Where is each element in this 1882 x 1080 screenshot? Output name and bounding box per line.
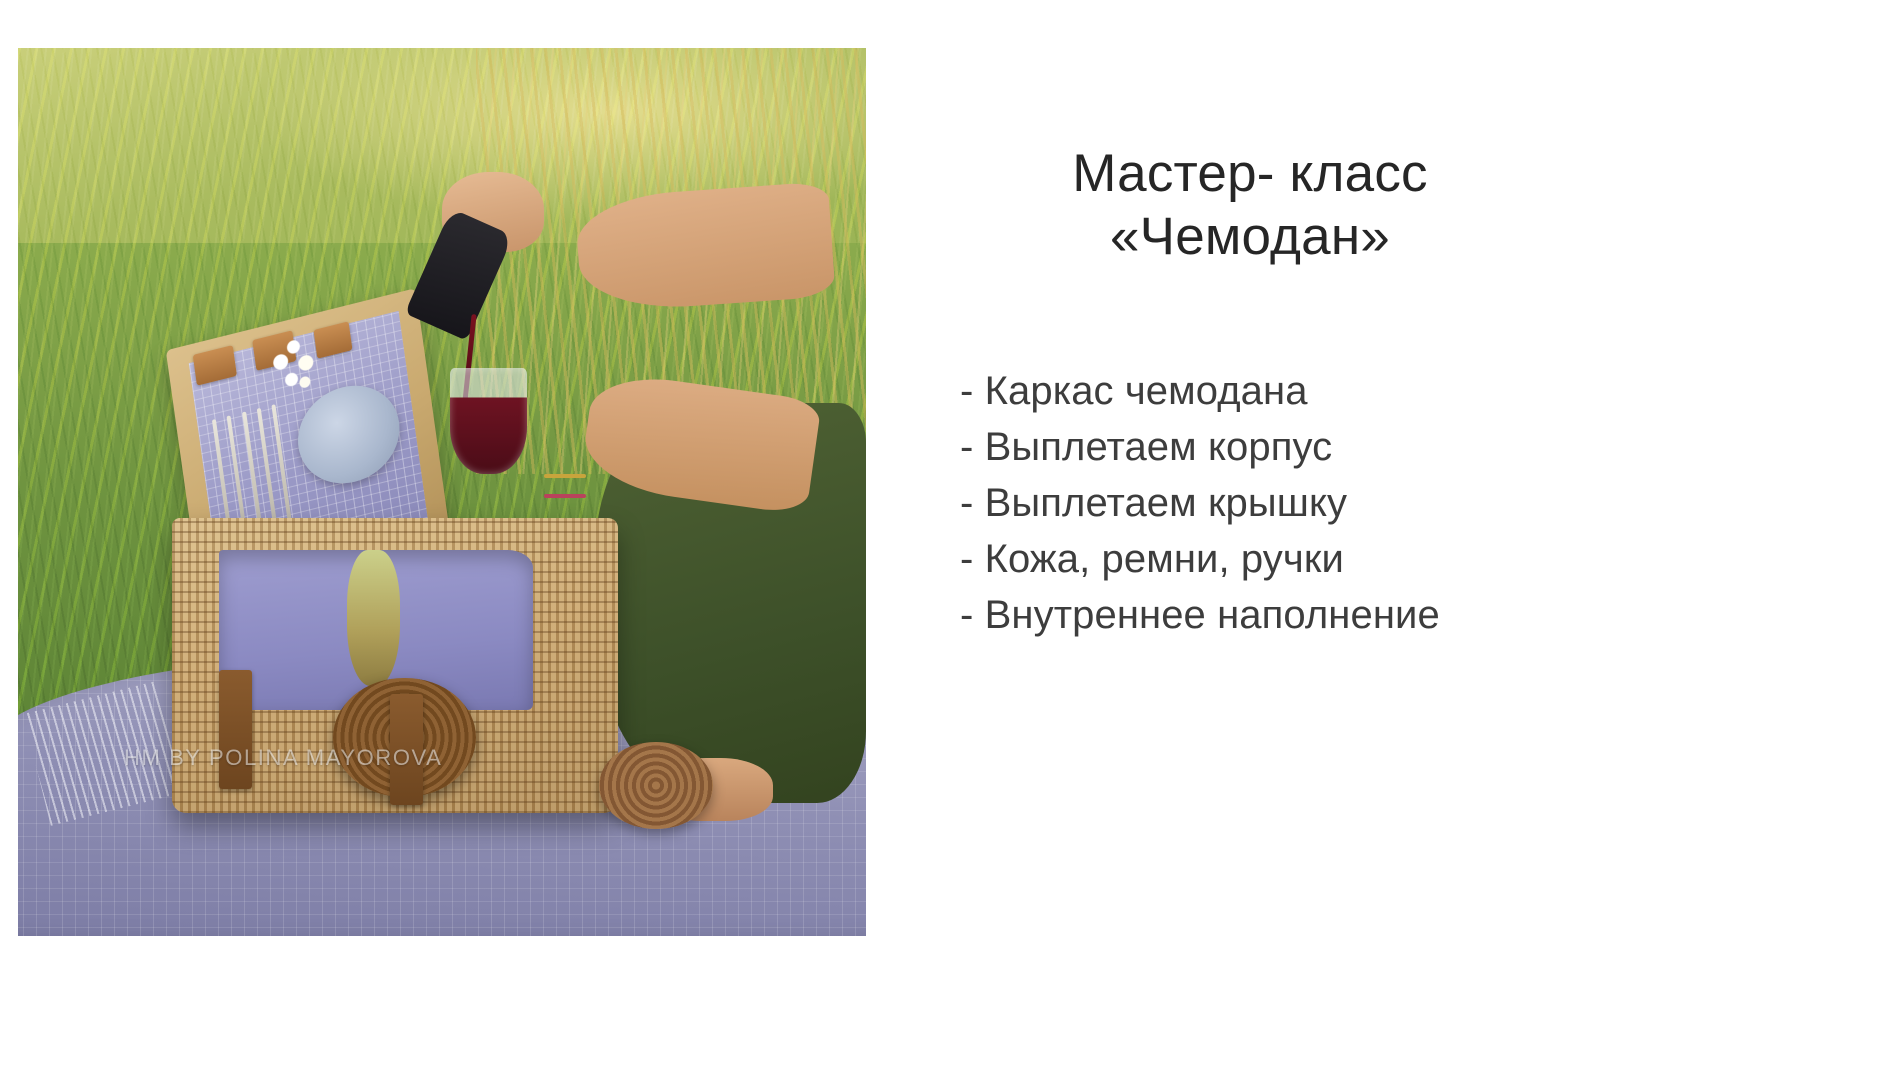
wine-glass: [450, 368, 526, 475]
slide-text-panel: Мастер- класс «Чемодан» - Каркас чемодан…: [900, 48, 1840, 936]
list-item: - Кожа, ремни, ручки: [960, 531, 1820, 587]
pineapple: [347, 550, 399, 686]
course-outline-list: - Каркас чемодана - Выплетаем корпус - В…: [960, 363, 1820, 643]
list-item: - Выплетаем корпус: [960, 419, 1820, 475]
presentation-slide: HM BY POLINA MAYOROVA Мастер- класс «Чем…: [0, 0, 1882, 1080]
picnic-basket-photo: HM BY POLINA MAYOROVA: [18, 48, 866, 936]
list-item: - Выплетаем крышку: [960, 475, 1820, 531]
daisy-flowers: [268, 330, 321, 399]
list-item: - Каркас чемодана: [960, 363, 1820, 419]
title-line-2: «Чемодан»: [900, 206, 1600, 269]
body-leather-strap-left: [219, 670, 252, 790]
wicker-round-tray: [599, 742, 713, 830]
photo-watermark: HM BY POLINA MAYOROVA: [124, 745, 442, 771]
title-line-1: Мастер- класс: [900, 143, 1600, 206]
slide-title: Мастер- класс «Чемодан»: [900, 143, 1600, 268]
list-item: - Внутреннее наполнение: [960, 587, 1820, 643]
